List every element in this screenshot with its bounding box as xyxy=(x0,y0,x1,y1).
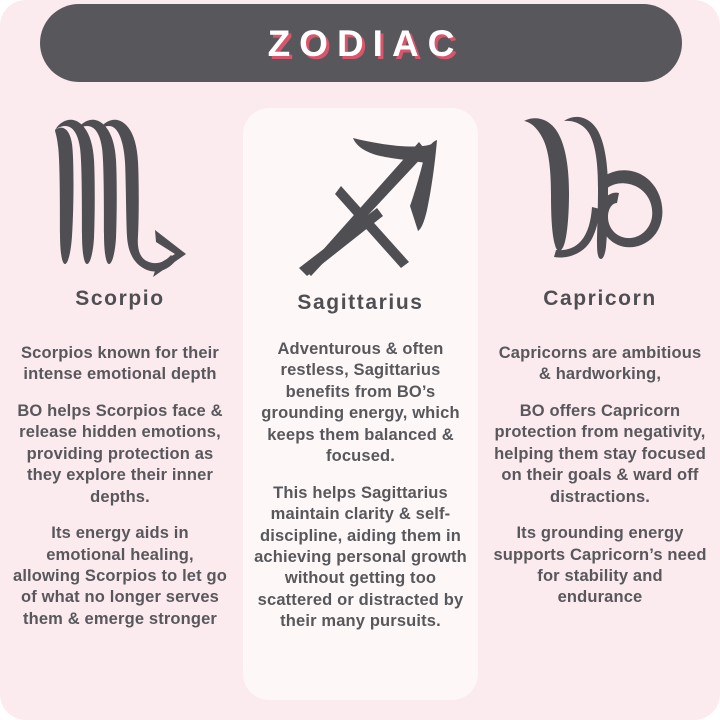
page-title: ZODIAC xyxy=(259,25,464,62)
sagittarius-glyph xyxy=(281,130,441,282)
paragraph: Scorpios known for their intense emotion… xyxy=(13,343,227,386)
header-banner: ZODIAC xyxy=(40,4,682,82)
sign-columns: Scorpio Scorpios known for their intense… xyxy=(0,96,720,720)
sign-description-capricorn: Capricorns are ambitious & hardworking, … xyxy=(493,343,707,609)
sign-column-scorpio: Scorpio Scorpios known for their intense… xyxy=(0,96,240,720)
sign-name-scorpio: Scorpio xyxy=(75,288,164,309)
paragraph: Adventurous & often restless, Sagittariu… xyxy=(250,339,472,468)
scorpio-glyph-wrap xyxy=(0,108,240,288)
paragraph: BO offers Capricorn protection from nega… xyxy=(493,401,707,508)
capricorn-glyph-wrap xyxy=(480,108,720,288)
sign-name-capricorn: Capricorn xyxy=(543,288,657,309)
paragraph: Its energy aids in emotional healing, al… xyxy=(13,523,227,630)
sagittarius-glyph-wrap xyxy=(243,120,478,292)
scorpio-glyph xyxy=(45,114,195,282)
zodiac-infographic: ZODIAC Scorpio xyxy=(0,0,720,720)
capricorn-glyph xyxy=(520,113,680,283)
sign-column-capricorn: Capricorn Capricorns are ambitious & har… xyxy=(480,96,720,720)
sign-name-sagittarius: Sagittarius xyxy=(297,292,423,313)
sign-description-sagittarius: Adventurous & often restless, Sagittariu… xyxy=(250,339,472,633)
sign-column-sagittarius: Sagittarius Adventurous & often restless… xyxy=(240,96,480,720)
paragraph: Its grounding energy supports Capricorn’… xyxy=(493,523,707,609)
paragraph: BO helps Scorpios face & release hidden … xyxy=(13,401,227,508)
paragraph: Capricorns are ambitious & hardworking, xyxy=(493,343,707,386)
sign-column-scorpio-inner: Scorpio Scorpios known for their intense… xyxy=(0,96,240,630)
sign-description-scorpio: Scorpios known for their intense emotion… xyxy=(13,343,227,630)
sign-column-capricorn-inner: Capricorn Capricorns are ambitious & har… xyxy=(480,96,720,609)
sign-column-sagittarius-card: Sagittarius Adventurous & often restless… xyxy=(243,108,478,700)
paragraph: This helps Sagittarius maintain clarity … xyxy=(250,483,472,633)
